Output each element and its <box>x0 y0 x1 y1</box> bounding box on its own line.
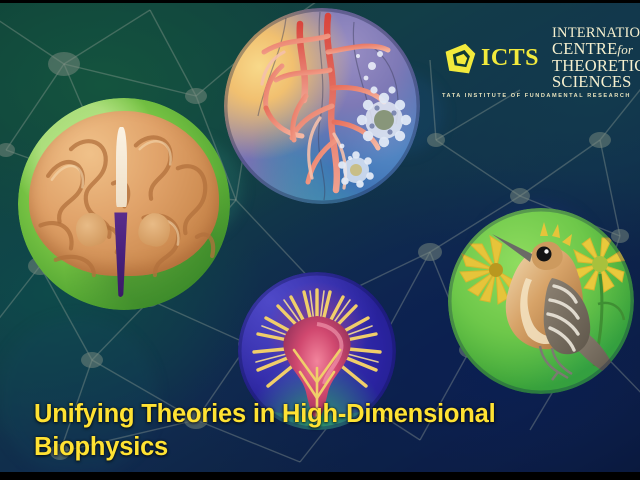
logo-line-sciences: SCIENCES <box>552 74 640 91</box>
page-title: Unifying Theories in High-Dimensional Bi… <box>34 398 614 463</box>
blood-vessel-illustration-circle <box>224 8 420 204</box>
brain-illustration-circle <box>18 98 230 310</box>
bird-illustration-circle <box>448 208 634 394</box>
brain-corpus-callosum <box>116 127 126 206</box>
title-line-2: Biophysics <box>34 431 614 464</box>
letterbox-bar-bottom <box>0 472 640 480</box>
icts-logo: ICTS INTERNATIONAL CENTREfor THEORETICAL… <box>442 26 632 98</box>
bird-and-flowers <box>448 208 634 394</box>
logo-tagline: TATA INSTITUTE OF FUNDAMENTAL RESEARCH <box>442 93 632 99</box>
vessel-branches <box>224 8 420 204</box>
icts-full-name: INTERNATIONAL CENTREfor THEORETICAL SCIE… <box>552 26 640 91</box>
title-card: ICTS INTERNATIONAL CENTREfor THEORETICAL… <box>0 0 640 480</box>
icts-diamond-logo-icon <box>442 41 478 77</box>
letterbox-bar-top <box>0 0 640 3</box>
title-line-1: Unifying Theories in High-Dimensional <box>34 398 614 431</box>
icts-acronym: ICTS <box>481 46 539 72</box>
songbird <box>492 222 618 380</box>
